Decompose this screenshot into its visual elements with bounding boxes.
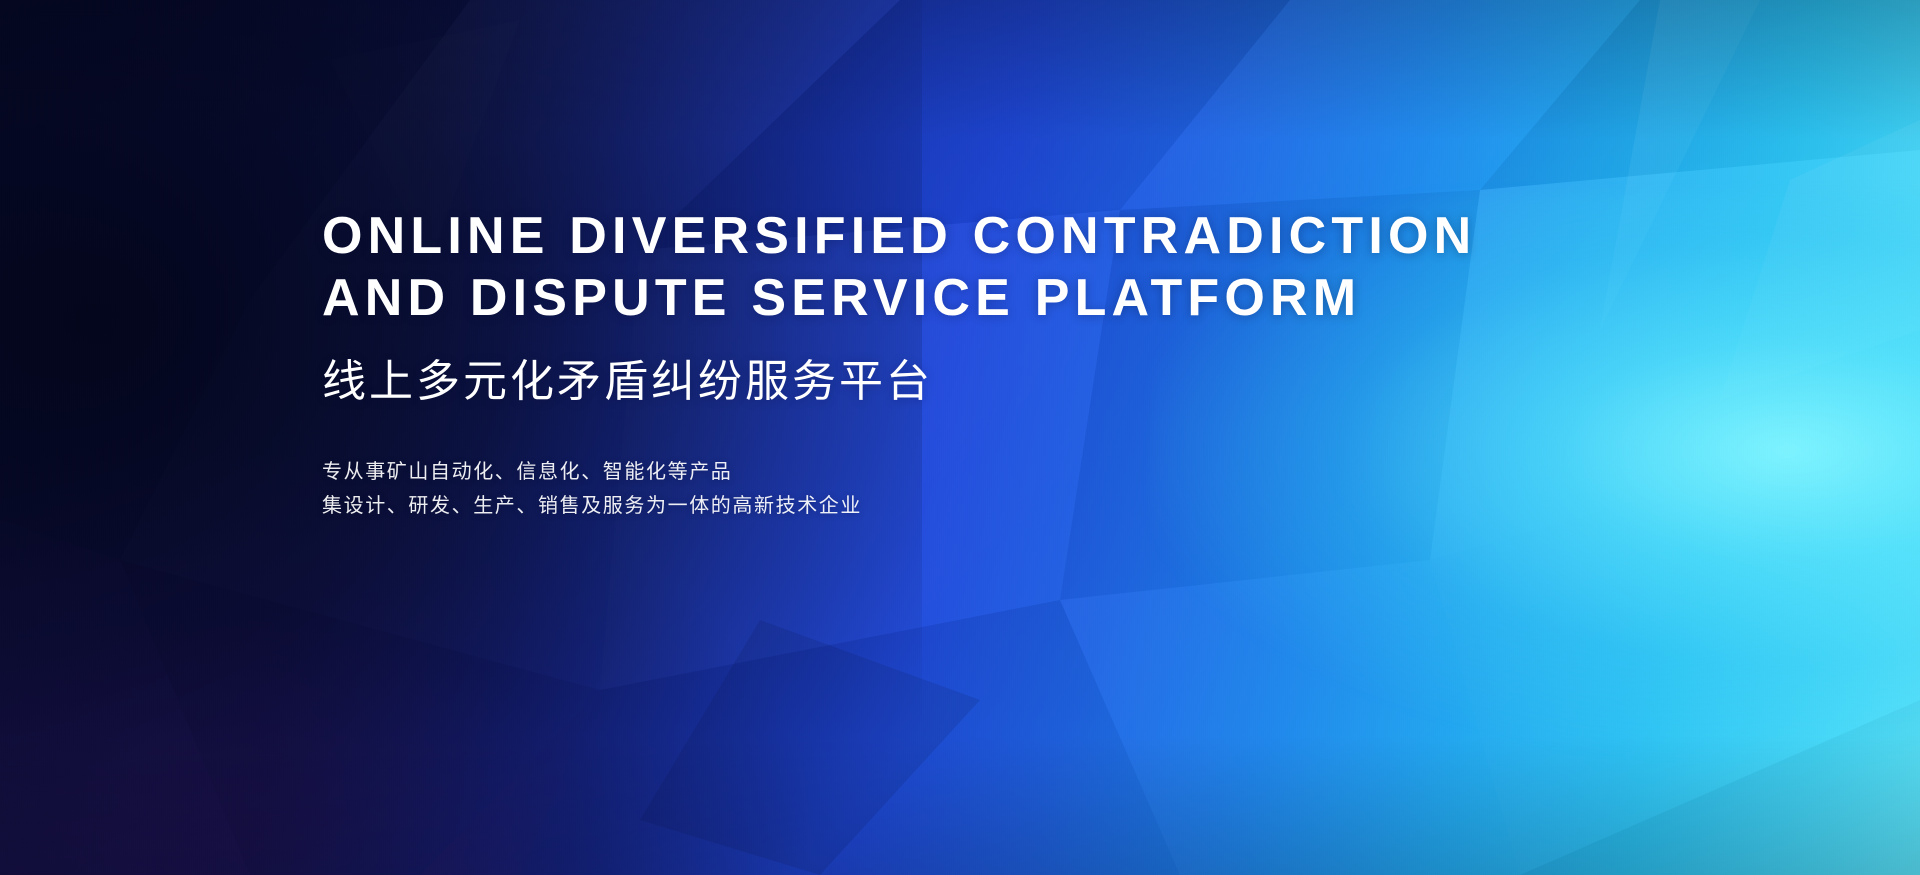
hero-banner: ONLINE DIVERSIFIED CONTRADICTION AND DIS… bbox=[0, 0, 1920, 875]
description-line-2: 集设计、研发、生产、销售及服务为一体的高新技术企业 bbox=[322, 489, 1742, 523]
description-block: 专从事矿山自动化、信息化、智能化等产品 集设计、研发、生产、销售及服务为一体的高… bbox=[322, 455, 1742, 523]
description-line-1: 专从事矿山自动化、信息化、智能化等产品 bbox=[322, 455, 1742, 489]
subtitle-chinese: 线上多元化矛盾纠纷服务平台 bbox=[322, 353, 1742, 411]
headline-line-2: AND DISPUTE SERVICE PLATFORM bbox=[322, 267, 1742, 329]
headline-line-1: ONLINE DIVERSIFIED CONTRADICTION bbox=[322, 205, 1742, 267]
banner-text-block: ONLINE DIVERSIFIED CONTRADICTION AND DIS… bbox=[322, 205, 1742, 523]
page-title: ONLINE DIVERSIFIED CONTRADICTION AND DIS… bbox=[322, 205, 1742, 329]
